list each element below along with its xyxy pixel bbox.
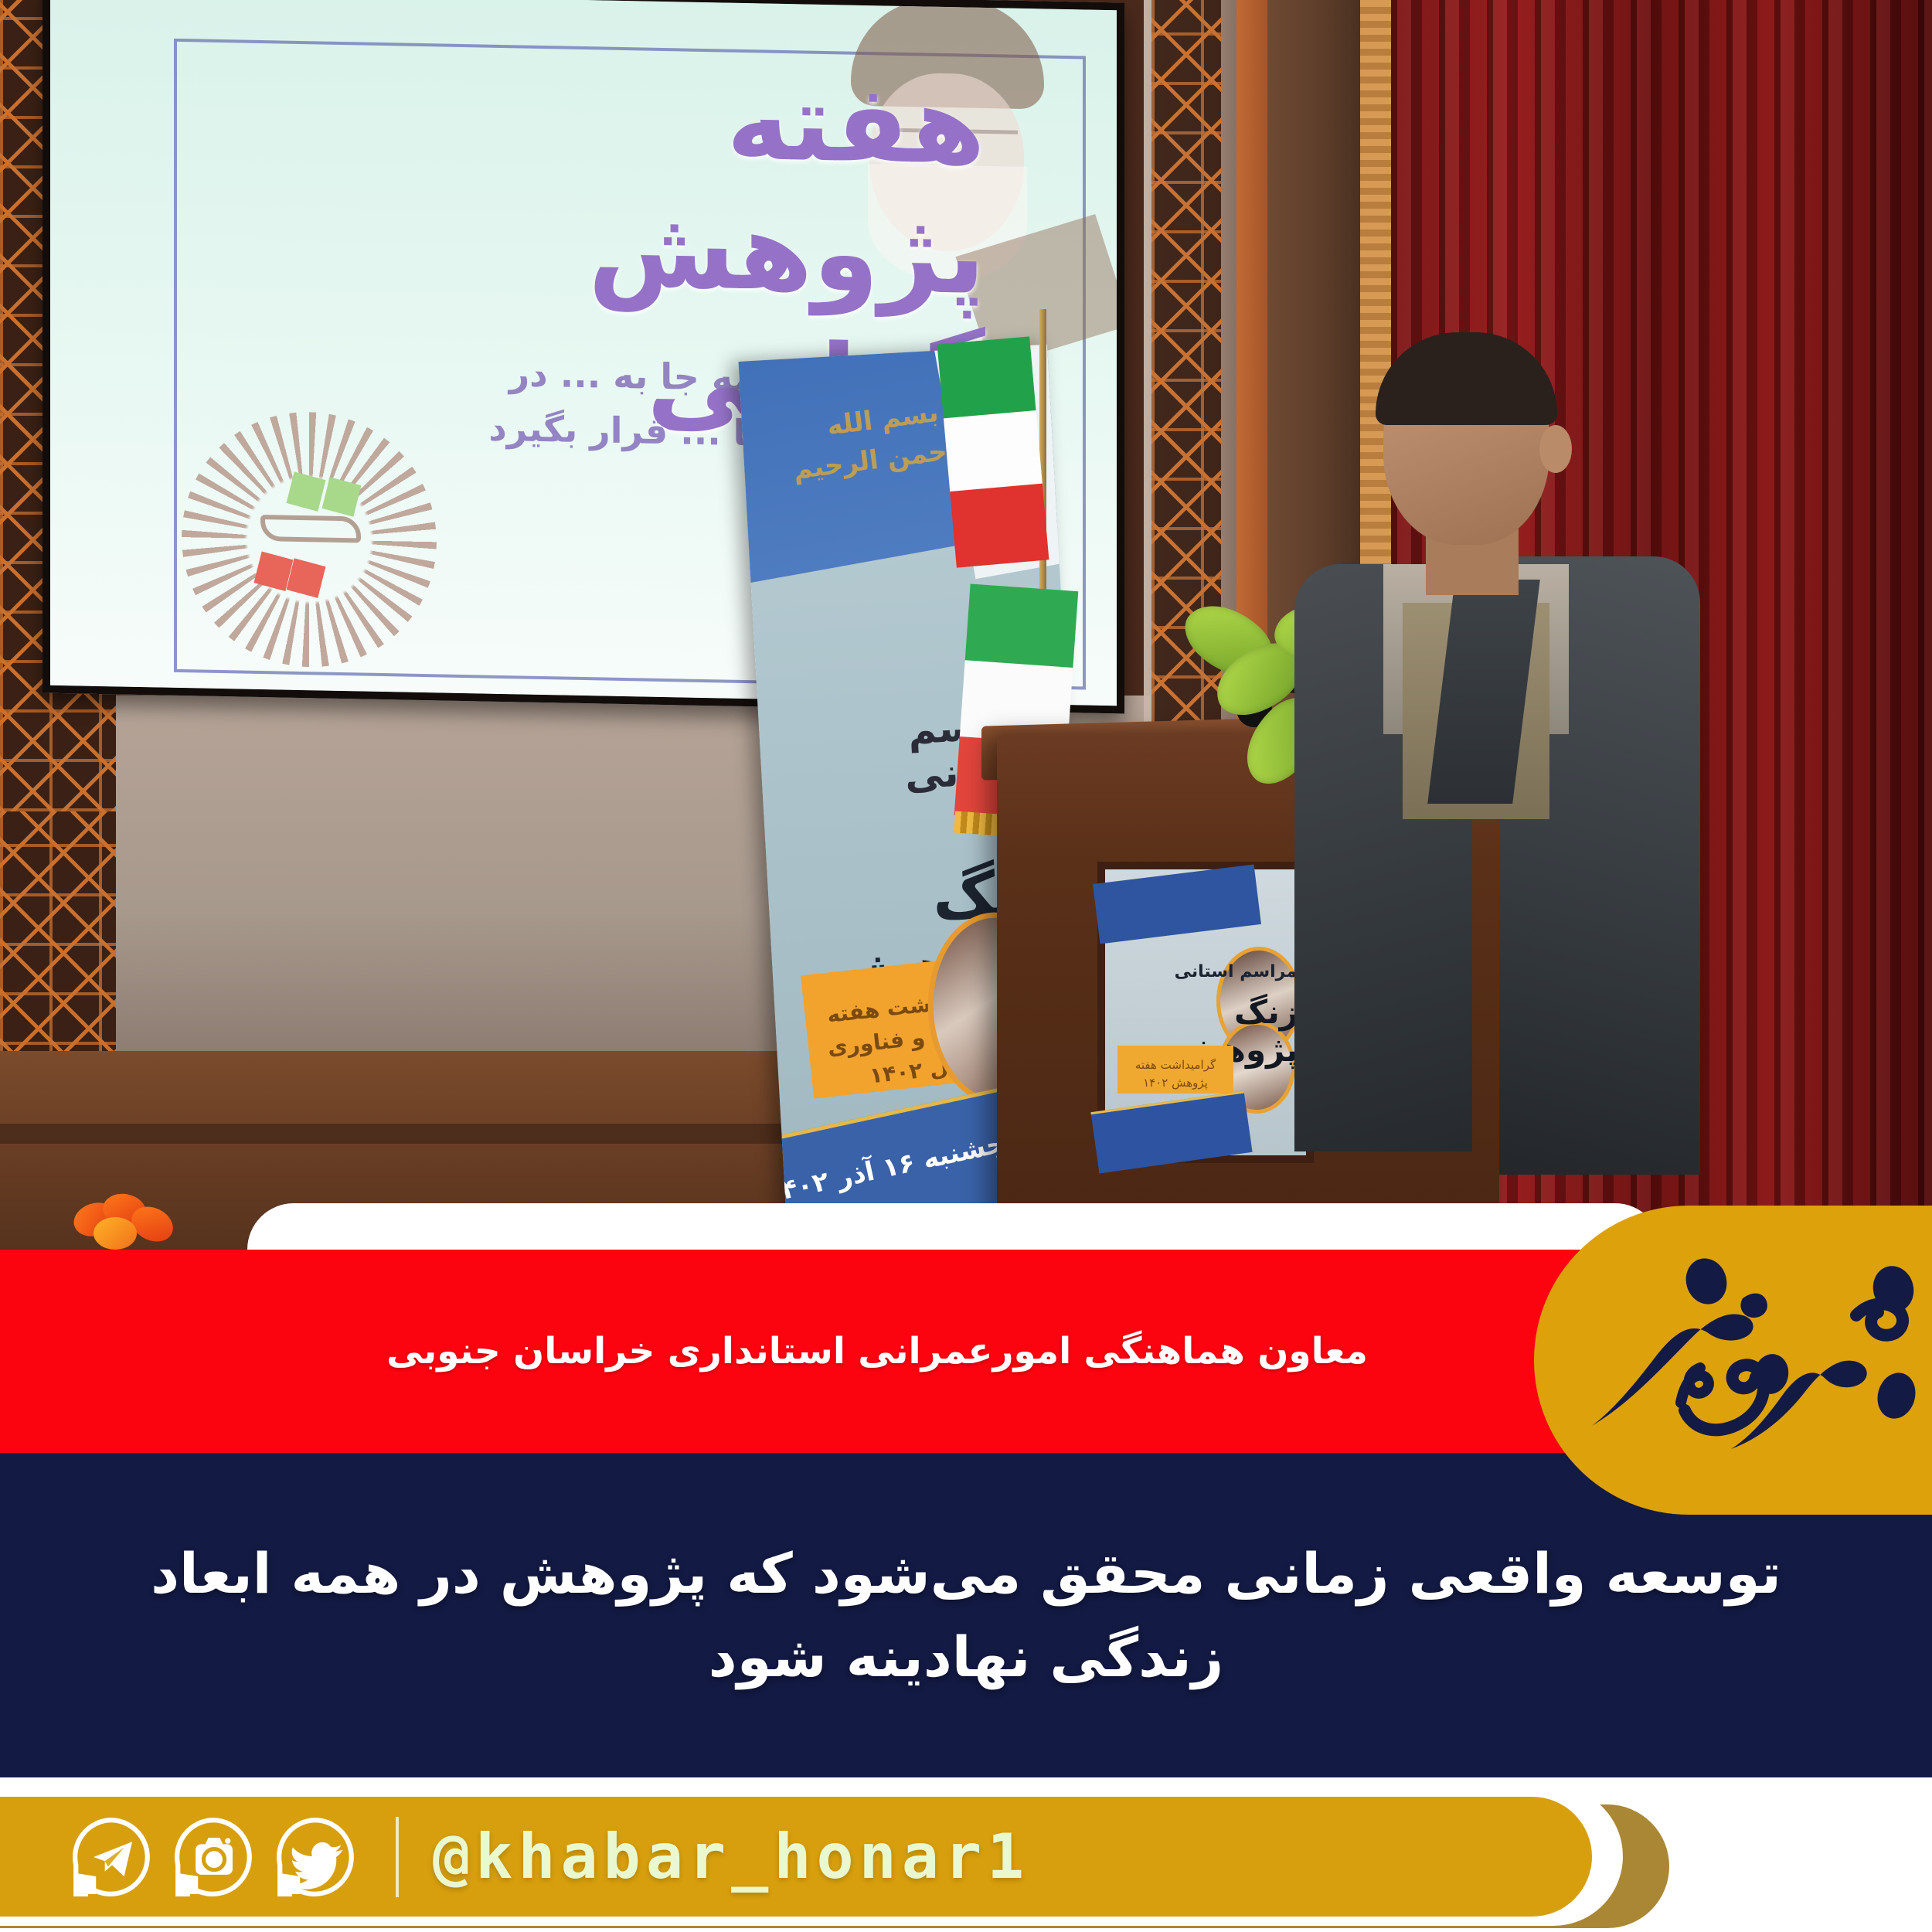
speaker-person	[1267, 332, 1747, 1252]
social-handle[interactable]: @khabar_honar1	[433, 1821, 1029, 1893]
white-divider-strip	[247, 1203, 1662, 1251]
telegram-icon[interactable]	[71, 1817, 151, 1897]
brand-logo-calligraphy-icon	[1569, 1244, 1932, 1476]
brand-logo-badge[interactable]	[1534, 1206, 1932, 1515]
twitter-icon[interactable]	[275, 1817, 355, 1897]
news-card: هفته پژوهش گرامی باد پژوهش در همه جا به …	[0, 0, 1932, 1932]
event-photo: هفته پژوهش گرامی باد پژوهش در همه جا به …	[0, 0, 1932, 1252]
research-logo-core	[245, 474, 376, 608]
podium-sign-note-text: گرامیداشت هفته پژوهش ۱۴۰۲	[1117, 1046, 1233, 1091]
rollup-date-text: پنجشنبه ۱۶ آذر ۱۴۰۲	[745, 1087, 1039, 1212]
caption-text: معاون هماهنگی امورعمرانی استانداری خراسا…	[0, 1250, 1615, 1453]
social-footer: @khabar_honar1	[0, 1797, 1592, 1917]
social-links	[71, 1817, 355, 1897]
orange-flower-icon	[73, 1194, 178, 1248]
iran-flag-icon-top	[937, 336, 1049, 567]
slide-title-line1: هفته پژوهش	[588, 60, 985, 319]
instagram-icon[interactable]	[173, 1817, 253, 1897]
podium-sign-note: گرامیداشت هفته پژوهش ۱۴۰۲	[1117, 1046, 1233, 1094]
footer-divider	[396, 1817, 399, 1897]
